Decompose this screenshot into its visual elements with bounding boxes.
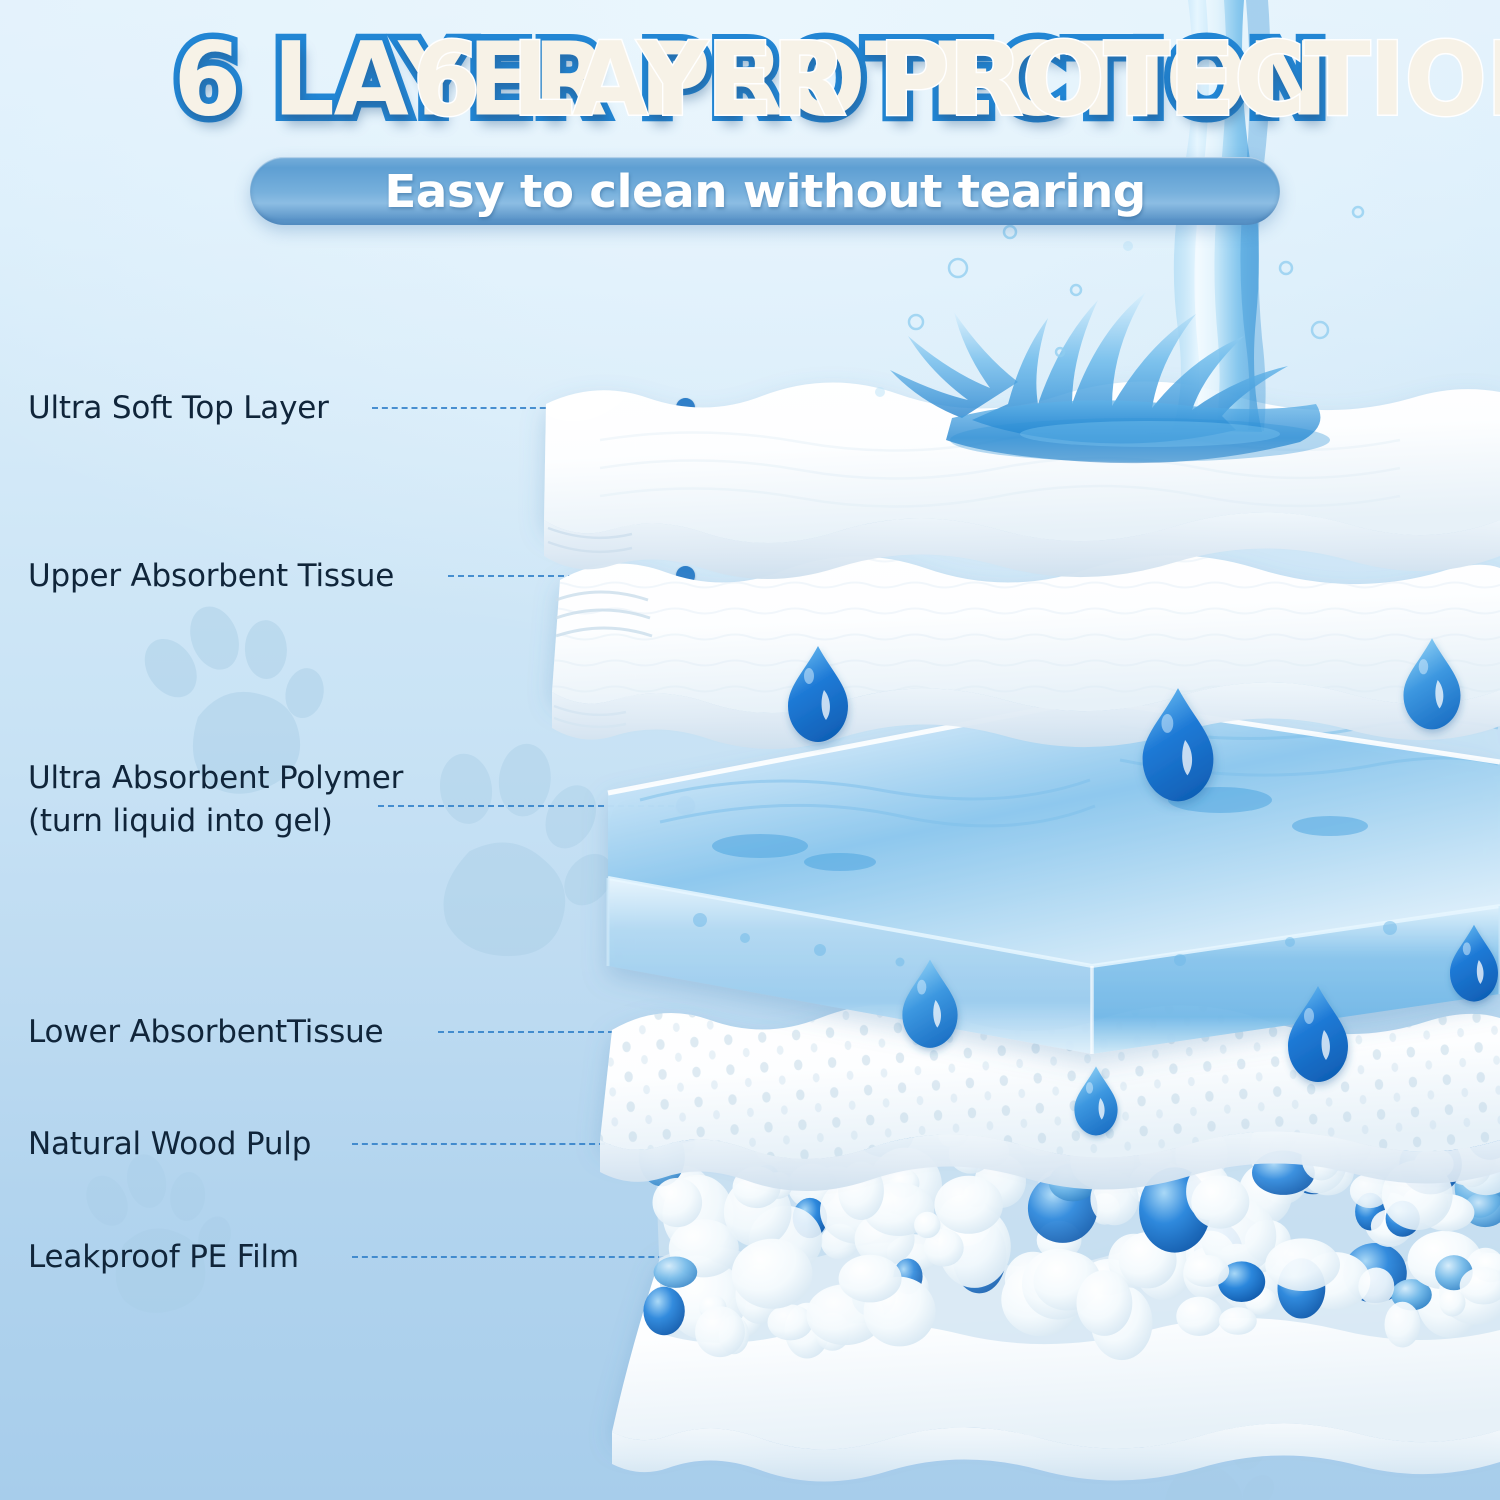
pulp-bead-icon <box>1414 1148 1454 1180</box>
pulp-bead-icon <box>973 1136 1009 1167</box>
pulp-bead-icon <box>663 1175 734 1255</box>
gel-bead-icon <box>1028 1174 1098 1243</box>
gel-bead-icon <box>952 1217 1006 1293</box>
pulp-bead-icon <box>975 1154 1026 1208</box>
pulp-bead-icon <box>695 1306 745 1357</box>
pulp-bead-icon <box>749 1206 822 1274</box>
pulp-bead-icon <box>1302 1146 1355 1195</box>
pulp-bead-icon <box>736 1265 784 1324</box>
pulp-bead-icon <box>1456 1137 1500 1195</box>
pulp-bead-icon <box>1420 1194 1475 1231</box>
pulp-bead-icon <box>1385 1302 1421 1348</box>
pulp-bead-icon <box>666 1255 728 1328</box>
pulp-bead-icon <box>1350 1174 1390 1209</box>
pulp-bead-icon <box>959 1104 1009 1142</box>
pulp-bead-icon <box>1323 1130 1366 1169</box>
pulp-bead-icon <box>949 1134 992 1174</box>
pulp-bead-icon <box>938 1123 968 1148</box>
pulp-bead-icon <box>849 1257 891 1297</box>
pulp-bead-icon <box>699 1295 727 1320</box>
water-droplet-icon <box>788 646 848 742</box>
pulp-bead-icon <box>1400 1118 1438 1167</box>
gel-bead-icon <box>1391 1279 1432 1310</box>
gel-bead-icon <box>1463 1192 1500 1227</box>
water-droplet-group <box>788 638 1498 1135</box>
pulp-bead-icon <box>806 1284 884 1345</box>
pulp-bead-icon <box>1337 1124 1401 1172</box>
pulp-bead-icon <box>887 1234 942 1271</box>
pulp-bead-icon <box>1119 1232 1177 1288</box>
pulp-bead-icon <box>914 1212 940 1238</box>
pulp-bead-icon <box>838 1162 884 1220</box>
pulp-bead-icon <box>1302 1136 1342 1180</box>
pulp-bead-icon <box>764 1247 788 1273</box>
pulp-bead-icon <box>1257 1139 1310 1204</box>
pulp-bead-icon <box>1218 1243 1288 1311</box>
pulp-bead-icon <box>1022 1249 1095 1320</box>
pulp-bead-icon <box>810 1166 864 1217</box>
water-droplet-icon <box>1288 986 1348 1082</box>
pulp-bead-icon <box>1037 1221 1082 1260</box>
pulp-bead-icon <box>732 1239 813 1309</box>
pulp-bead-icon <box>1440 1289 1466 1317</box>
pulp-bead-icon <box>820 1178 895 1244</box>
pulp-bead-icon <box>1084 1259 1134 1295</box>
layer-leakproof-pe-film <box>612 1242 1500 1481</box>
pulp-bead-icon <box>1038 1169 1084 1203</box>
pulp-bead-icon <box>1287 1134 1347 1194</box>
pulp-bead-icon <box>963 1184 988 1208</box>
pulp-bead-icon <box>1250 1110 1323 1190</box>
callout-text: Leakproof PE Film <box>28 1237 299 1277</box>
gel-bead-icon <box>1343 1243 1407 1303</box>
pulp-bead-icon <box>768 1304 813 1340</box>
gel-bead-icon <box>1252 1151 1315 1195</box>
gel-bead-icon <box>1139 1167 1210 1252</box>
gel-bead-icon <box>1269 1134 1299 1169</box>
pulp-bead-icon <box>1245 1220 1291 1262</box>
pulp-bead-icon <box>783 1120 814 1162</box>
pulp-bead-icon <box>1364 1193 1415 1247</box>
pulp-bead-icon <box>1358 1268 1394 1306</box>
pulp-bead-icon <box>938 1206 1011 1288</box>
pulp-bead-icon <box>1134 1161 1178 1199</box>
title-block: 6 LAYER PROTECTION 6 LAYER PROTECTION <box>0 26 1500 118</box>
pulp-bead-icon <box>1108 1234 1160 1288</box>
gel-bead-icon <box>1049 1163 1097 1201</box>
pulp-bead-icon <box>1005 1252 1061 1308</box>
callout-text: Ultra Absorbent Polymer (turn liquid int… <box>28 757 403 843</box>
gel-bead-icon <box>1280 1111 1346 1195</box>
gel-bead-icon <box>1278 1258 1326 1318</box>
pulp-bead-icon <box>1175 1125 1227 1185</box>
callout-text: Ultra Soft Top Layer <box>28 388 329 428</box>
pulp-bead-icon <box>1439 1259 1500 1325</box>
layer-natural-wood-pulp <box>639 1097 1500 1360</box>
pulp-bead-icon <box>763 1172 793 1199</box>
layer-ultra-absorbent-polymer <box>608 700 1500 1054</box>
leader-dot-ultra-absorbent-polymer <box>676 796 695 815</box>
leader-dot-leakproof-pe-film <box>676 1247 695 1266</box>
gel-bead-icon <box>1355 1193 1385 1231</box>
leader-line-upper-absorbent-tissue <box>448 575 684 577</box>
pulp-bead-icon <box>653 1178 703 1227</box>
pulp-bead-icon <box>934 1176 1003 1234</box>
callout-label-upper-absorbent-tissue: Upper Absorbent Tissue <box>28 556 394 596</box>
pulp-bead-icon <box>1183 1247 1231 1299</box>
pulp-bead-icon <box>864 1277 936 1347</box>
pulp-bead-icon <box>1079 1281 1138 1333</box>
pulp-bead-icon <box>1135 1236 1192 1300</box>
pulp-bead-icon <box>863 1183 934 1236</box>
pulp-bead-icon <box>1382 1160 1453 1230</box>
water-droplet-icon <box>902 960 957 1048</box>
water-droplet-icon <box>1074 1066 1117 1135</box>
pulp-bead-icon <box>724 1177 792 1247</box>
subtitle-banner: Easy to clean without tearing <box>250 157 1280 225</box>
pulp-bead-icon <box>899 1271 928 1307</box>
pulp-bead-icon <box>1001 1263 1081 1337</box>
pulp-bead-icon <box>1076 1152 1109 1187</box>
callout-label-leakproof-pe-film: Leakproof PE Film <box>28 1237 299 1277</box>
pulp-bead-icon <box>821 1224 859 1260</box>
pulp-bead-icon <box>1090 1193 1120 1224</box>
gel-bead-icon <box>1468 1114 1500 1160</box>
callout-label-lower-absorbent-tissue: Lower AbsorbentTissue <box>28 1012 383 1052</box>
gel-bead-icon <box>793 1198 827 1238</box>
pulp-bead-icon <box>1245 1287 1277 1315</box>
subtitle-text: Easy to clean without tearing <box>384 165 1145 218</box>
pulp-bead-icon <box>1033 1251 1100 1310</box>
pulp-bead-icon <box>666 1261 746 1340</box>
pulp-bead-icon <box>938 1195 992 1246</box>
pulp-bead-icon <box>1460 1267 1500 1305</box>
pulp-bead-icon <box>1417 1261 1483 1338</box>
pulp-bead-icon <box>991 1097 1046 1136</box>
pulp-bead-icon <box>1077 1270 1133 1336</box>
gel-bead-icon <box>941 1221 977 1263</box>
pulp-bead-icon <box>1402 1185 1448 1223</box>
pulp-bead-icon <box>839 1255 902 1303</box>
gel-bead-icon <box>1386 1201 1420 1237</box>
gel-bead-icon <box>754 1165 781 1202</box>
pulp-bead-icon <box>1371 1209 1413 1243</box>
gel-bead-icon <box>1399 1134 1462 1194</box>
pulp-bead-icon <box>1301 1252 1371 1309</box>
pulp-bead-icon <box>1155 1201 1202 1242</box>
pulp-bead-icon <box>1091 1285 1153 1360</box>
pulp-bead-icon <box>1442 1102 1500 1185</box>
layer-lower-absorbent-tissue <box>600 1004 1500 1191</box>
callout-label-ultra-soft-top-layer: Ultra Soft Top Layer <box>28 388 329 428</box>
leader-dot-lower-absorbent-tissue <box>676 1022 695 1041</box>
pulp-bead-icon <box>788 1164 837 1209</box>
callout-label-natural-wood-pulp: Natural Wood Pulp <box>28 1124 311 1164</box>
pulp-bead-icon <box>1129 1161 1189 1207</box>
pulp-bead-icon <box>1186 1163 1231 1220</box>
water-splash-icon <box>875 196 1363 463</box>
pulp-bead-icon <box>1070 1133 1134 1190</box>
pulp-bead-icon <box>1191 1176 1249 1229</box>
pulp-bead-icon <box>1176 1297 1222 1336</box>
pulp-bead-icon <box>1439 1128 1496 1185</box>
leader-dot-ultra-soft-top-layer <box>676 398 695 417</box>
pulp-bead-icon <box>924 1229 964 1267</box>
water-droplet-icon <box>1450 925 1498 1002</box>
leader-dot-upper-absorbent-tissue <box>676 566 695 585</box>
callout-label-ultra-absorbent-polymer: Ultra Absorbent Polymer (turn liquid int… <box>28 757 403 843</box>
pulp-bead-icon <box>785 1303 830 1359</box>
gel-bead-icon <box>852 1279 896 1317</box>
pulp-bead-icon <box>888 1169 920 1198</box>
pulp-bead-icon <box>868 1148 942 1224</box>
pulp-bead-icon <box>1238 1164 1292 1225</box>
pulp-bead-icon <box>733 1167 781 1209</box>
paw-print-icon <box>1114 1379 1296 1500</box>
pulp-bead-icon <box>1408 1231 1482 1289</box>
pulp-bead-icon <box>1011 1099 1062 1153</box>
pulp-bead-icon <box>1186 1231 1235 1279</box>
pulp-bead-icon <box>1451 1143 1492 1187</box>
pulp-bead-icon <box>1163 1218 1229 1281</box>
pulp-bead-icon <box>1184 1255 1229 1287</box>
callout-text: Lower AbsorbentTissue <box>28 1012 383 1052</box>
pulp-bead-icon <box>1235 1242 1277 1273</box>
gel-bead-icon <box>1435 1255 1473 1290</box>
leader-line-ultra-absorbent-polymer <box>378 805 684 807</box>
pulp-bead-icon <box>1139 1142 1173 1171</box>
water-droplet-icon <box>1404 638 1461 729</box>
pulp-bead-icon <box>658 1166 709 1207</box>
infographic-poster: 6 LAYER PROTECTION 6 LAYER PROTECTION Ea… <box>0 0 1500 1500</box>
gel-bead-icon <box>1218 1261 1265 1302</box>
gel-bead-icon <box>893 1259 922 1295</box>
gel-bead-icon <box>1455 1156 1500 1217</box>
pulp-bead-icon <box>754 1126 788 1164</box>
gel-bead-icon <box>643 1287 684 1335</box>
pulp-bead-icon <box>1219 1307 1257 1335</box>
leader-line-lower-absorbent-tissue <box>438 1031 684 1033</box>
leader-dot-natural-wood-pulp <box>676 1134 695 1153</box>
pulp-bead-icon <box>719 1315 749 1354</box>
leader-line-leakproof-pe-film <box>352 1256 684 1258</box>
pulp-bead-icon <box>1024 1119 1060 1156</box>
pulp-bead-icon <box>1472 1253 1500 1282</box>
pulp-bead-icon <box>729 1291 763 1336</box>
callout-text: Upper Absorbent Tissue <box>28 556 394 596</box>
callout-text: Natural Wood Pulp <box>28 1124 311 1164</box>
water-droplet-icon <box>1143 688 1214 801</box>
pulp-bead-icon <box>1214 1244 1259 1291</box>
pulp-bead-icon <box>815 1313 851 1351</box>
gel-bead-icon <box>855 1111 914 1157</box>
pulp-bead-icon <box>1265 1238 1340 1291</box>
gel-bead-icon <box>1194 1223 1243 1284</box>
pulp-bead-icon <box>855 1213 915 1266</box>
pulp-bead-icon <box>1109 1108 1146 1158</box>
leader-line-ultra-soft-top-layer <box>372 407 684 409</box>
pulp-bead-icon <box>1090 1173 1138 1226</box>
page-title: 6 LAYER PROTECTION <box>173 26 1326 135</box>
pulp-bead-icon <box>1168 1187 1213 1224</box>
pulp-bead-icon <box>1201 1199 1277 1274</box>
leader-line-natural-wood-pulp <box>352 1143 684 1145</box>
pulp-bead-icon <box>1463 1248 1500 1303</box>
pulp-bead-icon <box>1312 1113 1373 1171</box>
pulp-bead-icon <box>1386 1113 1420 1154</box>
layer-upper-absorbent-tissue <box>552 555 1500 749</box>
paw-print-icon <box>366 716 638 988</box>
